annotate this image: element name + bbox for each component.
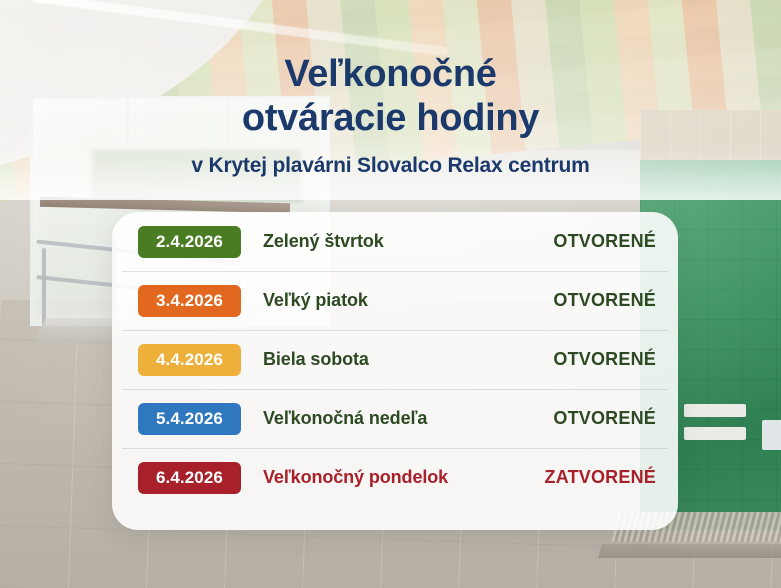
schedule-row: 6.4.2026Veľkonočný pondelokZATVORENÉ bbox=[112, 448, 678, 507]
date-badge: 5.4.2026 bbox=[138, 403, 241, 435]
status-badge: OTVORENÉ bbox=[553, 290, 656, 311]
schedule-rows: 2.4.2026Zelený štvrtokOTVORENÉ3.4.2026Ve… bbox=[112, 212, 678, 507]
status-badge: OTVORENÉ bbox=[553, 231, 656, 252]
status-badge: OTVORENÉ bbox=[553, 408, 656, 429]
date-badge: 2.4.2026 bbox=[138, 226, 241, 258]
status-badge: OTVORENÉ bbox=[553, 349, 656, 370]
schedule-row: 5.4.2026Veľkonočná nedeľaOTVORENÉ bbox=[112, 389, 678, 448]
day-name-label: Zelený štvrtok bbox=[263, 231, 553, 252]
page-title-line-2: otváracie hodiny bbox=[0, 96, 781, 140]
day-name-label: Veľký piatok bbox=[263, 290, 553, 311]
schedule-card: 2.4.2026Zelený štvrtokOTVORENÉ3.4.2026Ve… bbox=[112, 212, 678, 530]
schedule-row: 3.4.2026Veľký piatokOTVORENÉ bbox=[112, 271, 678, 330]
date-badge: 3.4.2026 bbox=[138, 285, 241, 317]
page-subtitle: v Krytej plavárni Slovalco Relax centrum bbox=[0, 153, 781, 179]
day-name-label: Biela sobota bbox=[263, 349, 553, 370]
heading-block: Veľkonočné otváracie hodiny v Krytej pla… bbox=[0, 52, 781, 179]
day-name-label: Veľkonočný pondelok bbox=[263, 467, 545, 488]
schedule-row: 2.4.2026Zelený štvrtokOTVORENÉ bbox=[112, 212, 678, 271]
status-badge: ZATVORENÉ bbox=[545, 467, 656, 488]
poster: Veľkonočné otváracie hodiny v Krytej pla… bbox=[0, 0, 781, 588]
page-title-line-1: Veľkonočné bbox=[0, 52, 781, 96]
date-badge: 4.4.2026 bbox=[138, 344, 241, 376]
day-name-label: Veľkonočná nedeľa bbox=[263, 408, 553, 429]
schedule-row: 4.4.2026Biela sobotaOTVORENÉ bbox=[112, 330, 678, 389]
date-badge: 6.4.2026 bbox=[138, 462, 241, 494]
